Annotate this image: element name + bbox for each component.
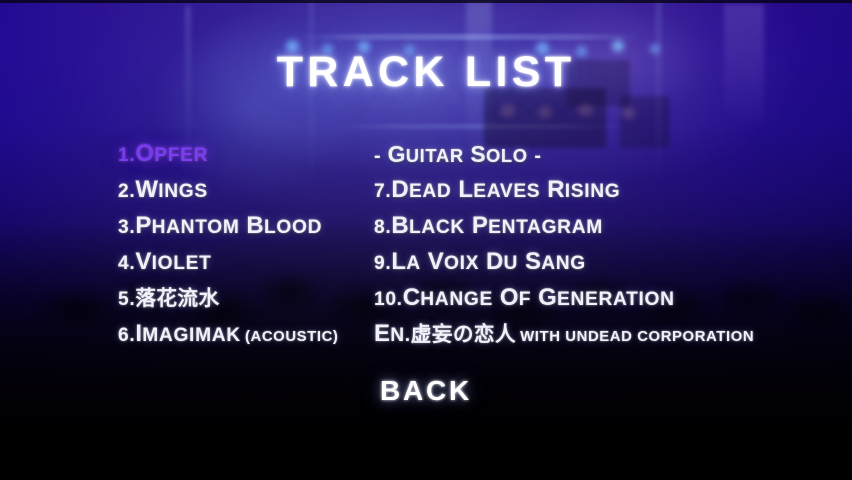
track-item[interactable]: 3.Phantom Blood	[118, 208, 378, 244]
track-title: 落花流水	[135, 287, 219, 310]
track-item[interactable]: 7.Dead Leaves Rising	[374, 172, 794, 208]
track-number: 4.	[118, 248, 135, 275]
track-column-left: 1.Opfer2.Wings3.Phantom Blood4.Violet5.落…	[118, 136, 378, 352]
track-item[interactable]: - Guitar Solo -	[374, 136, 794, 172]
track-annotation: with undead corporation	[520, 329, 754, 345]
track-item[interactable]: 8.Black Pentagram	[374, 208, 794, 244]
track-title: 虚妄の恋人	[411, 323, 516, 346]
track-item[interactable]: EN.虚妄の恋人with undead corporation	[374, 316, 794, 352]
track-number: 2.	[118, 176, 135, 203]
track-number: 6.	[118, 320, 135, 347]
track-number: 7.	[374, 176, 391, 203]
track-title: Change of Generation	[403, 284, 675, 311]
track-item[interactable]: 5.落花流水	[118, 280, 378, 316]
track-item[interactable]: 10.Change of Generation	[374, 280, 794, 316]
track-title: Dead Leaves Rising	[391, 176, 620, 203]
track-item[interactable]: 1.Opfer	[118, 136, 378, 172]
track-column-right: - Guitar Solo -7.Dead Leaves Rising8.Bla…	[374, 136, 794, 352]
track-item[interactable]: 6.IMAGIMAK(acoustic)	[118, 316, 378, 352]
track-item[interactable]: 9.La voix du sang	[374, 244, 794, 280]
track-annotation: (acoustic)	[245, 329, 339, 345]
track-title: Wings	[135, 176, 208, 203]
track-number: 8.	[374, 212, 391, 239]
track-title: Violet	[135, 248, 211, 275]
track-number: 10.	[374, 284, 403, 311]
track-number: 5.	[118, 284, 135, 311]
track-title: La voix du sang	[391, 248, 586, 275]
track-title: Opfer	[135, 140, 208, 167]
track-title: Black Pentagram	[391, 212, 603, 239]
track-number: 1.	[118, 140, 135, 167]
track-title: IMAGIMAK	[135, 320, 240, 347]
track-number: 3.	[118, 212, 135, 239]
track-item[interactable]: 2.Wings	[118, 172, 378, 208]
back-button[interactable]: BACK	[0, 375, 852, 407]
track-item[interactable]: 4.Violet	[118, 244, 378, 280]
track-title: - Guitar Solo -	[374, 141, 541, 167]
track-title: Phantom Blood	[135, 212, 322, 239]
page-title: TRACK LIST	[0, 48, 852, 97]
track-number: 9.	[374, 248, 391, 275]
dvd-menu-screen: TRACK LIST 1.Opfer2.Wings3.Phantom Blood…	[0, 0, 852, 480]
track-number: EN.	[374, 320, 411, 347]
